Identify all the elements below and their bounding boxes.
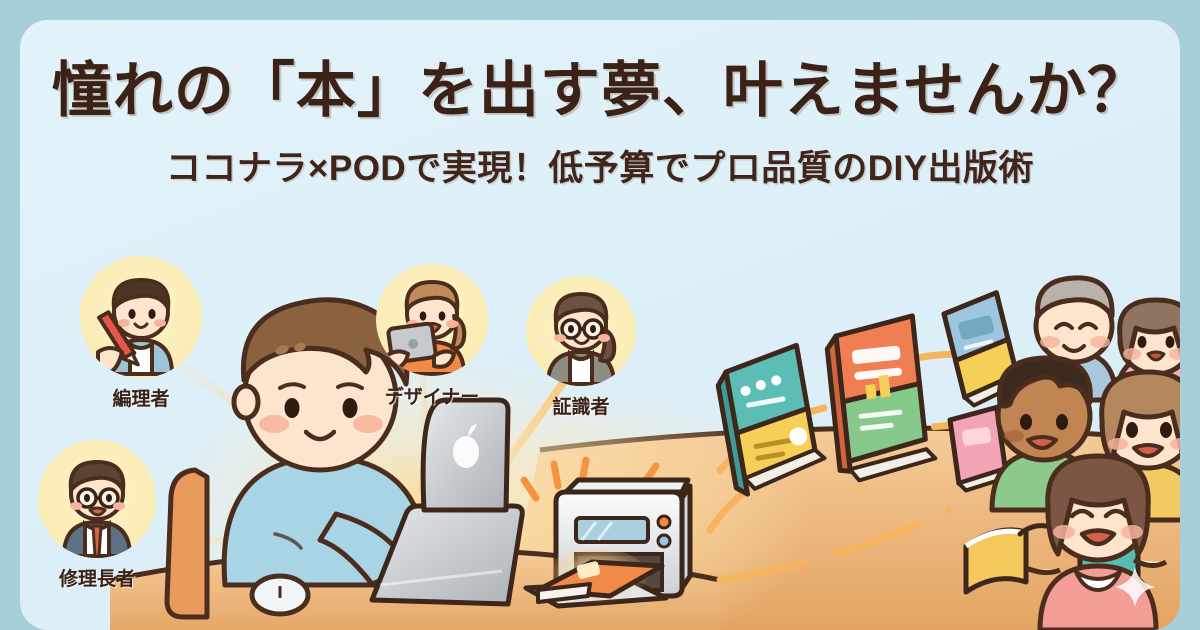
- author-eye-left: [285, 398, 300, 418]
- printer-lamp-orange: [658, 516, 670, 528]
- page-subtitle: ココナラ×PODで実現！低予算でプロ品質のDIY出版術: [20, 140, 1180, 191]
- avatar-designer[interactable]: デザイナー: [376, 264, 488, 376]
- reviewer-portrait-icon: [526, 276, 636, 386]
- avatar-circle-editor: [80, 256, 202, 378]
- eyecatch-canvas: 編理者: [0, 0, 1200, 630]
- page-title: 憧れの「本」を出す夢、叶えませんか？: [20, 58, 1180, 124]
- eyecatch-card: 編理者: [20, 20, 1180, 630]
- mouse-graphic: [252, 576, 308, 614]
- editor-portrait-icon: [80, 256, 202, 378]
- avatar-circle-reviewer: [526, 276, 636, 386]
- avatar-circle-designer: [376, 264, 488, 376]
- avatar-label-proofreader: 修理長者: [59, 564, 135, 591]
- header-block: 憧れの「本」を出す夢、叶えませんか？ ココナラ×PODで実現！低予算でプロ品質の…: [20, 58, 1180, 191]
- printer-lamp-blue: [658, 535, 670, 547]
- avatar-editor[interactable]: 編理者: [80, 256, 202, 378]
- printer-display: [576, 518, 648, 542]
- designer-portrait-icon: [376, 264, 488, 376]
- avatar-label-designer: デザイナー: [385, 382, 480, 409]
- chair: [167, 470, 207, 617]
- author-eye-right: [343, 398, 358, 418]
- sparkle-icon: [1114, 566, 1156, 608]
- proofreader-portrait-icon: [38, 440, 156, 558]
- avatar-label-editor: 編理者: [112, 384, 169, 411]
- avatar-reviewer[interactable]: 証識者: [526, 276, 636, 386]
- avatar-label-reviewer: 証識者: [552, 392, 609, 419]
- apple-logo-icon: [453, 436, 479, 468]
- avatar-circle-proofreader: [38, 440, 156, 558]
- avatar-proofreader[interactable]: 修理長者: [38, 440, 156, 558]
